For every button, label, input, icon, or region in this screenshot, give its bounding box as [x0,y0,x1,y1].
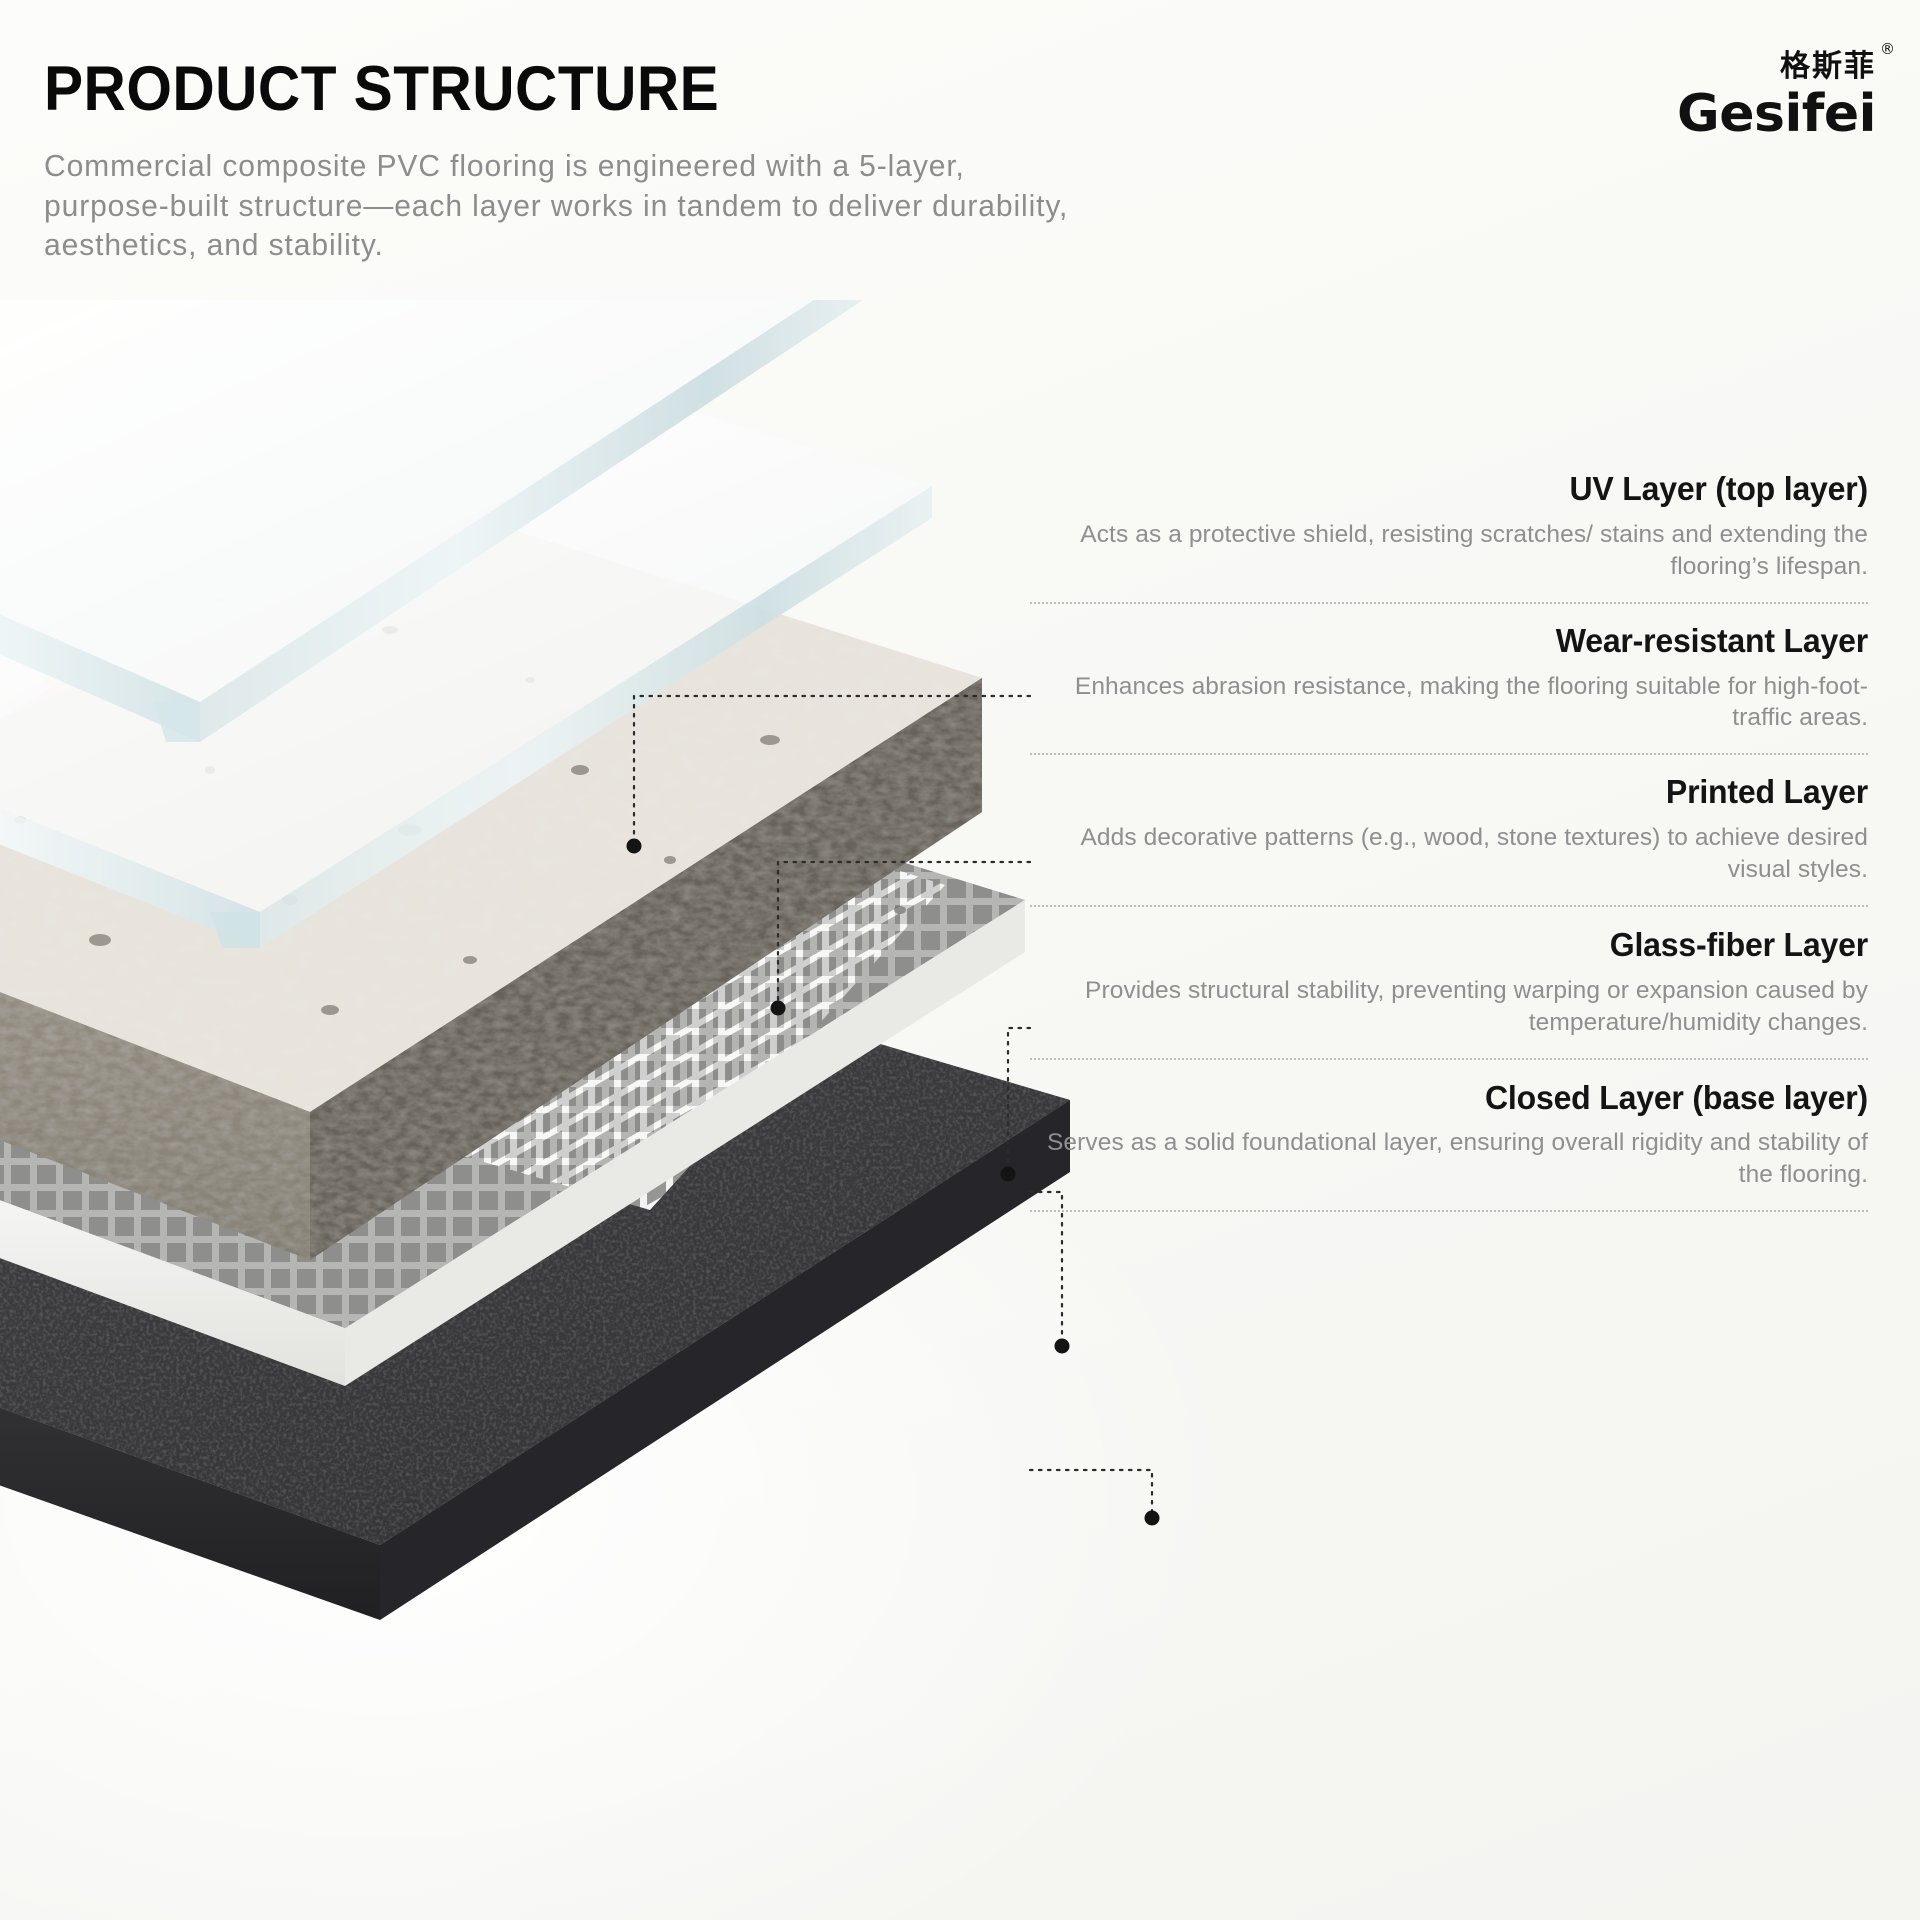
layer-description-printed: Adds decorative patterns (e.g., wood, st… [1030,822,1868,886]
layer-callout-wear-resistant[interactable]: Wear-resistant Layer Enhances abrasion r… [1030,622,1890,756]
registered-trademark-icon: ® [1880,42,1895,57]
logo-chinese-text: 格斯菲 [1780,49,1876,84]
page-header: PRODUCT STRUCTURE Commercial composite P… [44,58,1104,266]
layer-description-wear-resistant: Enhances abrasion resistance, making the… [1030,671,1868,735]
layer-description-uv: Acts as a protective shield, resisting s… [1030,519,1868,583]
layer-title-uv: UV Layer (top layer) [1055,470,1868,509]
callout-divider [1030,905,1868,907]
page-subtitle: Commercial composite PVC flooring is eng… [44,147,1088,266]
layer-callout-list: UV Layer (top layer) Acts as a protectiv… [1030,470,1890,1212]
layer-callout-closed[interactable]: Closed Layer (base layer) Serves as a so… [1030,1079,1890,1213]
layer-title-closed: Closed Layer (base layer) [1055,1079,1868,1118]
layer-description-closed: Serves as a solid foundational layer, en… [1030,1127,1868,1191]
layer-title-wear-resistant: Wear-resistant Layer [1055,622,1868,661]
layer-title-printed: Printed Layer [1055,773,1868,812]
callout-divider [1030,1210,1868,1212]
layer-callout-uv[interactable]: UV Layer (top layer) Acts as a protectiv… [1030,470,1890,604]
brand-logo[interactable]: 格斯菲 ® Gesifei [1677,52,1876,140]
layer-callout-printed[interactable]: Printed Layer Adds decorative patterns (… [1030,773,1890,907]
layer-title-glass-fiber: Glass-fiber Layer [1055,926,1868,965]
callout-divider [1030,602,1868,604]
callout-divider [1030,1058,1868,1060]
callout-divider [1030,753,1868,755]
product-exploded-illustration [0,300,1130,1860]
layer-description-glass-fiber: Provides structural stability, preventin… [1030,975,1868,1039]
logo-english-name: Gesifei [1677,88,1876,140]
logo-chinese-name: 格斯菲 ® [1780,52,1876,82]
layer-callout-glass-fiber[interactable]: Glass-fiber Layer Provides structural st… [1030,926,1890,1060]
page-title: PRODUCT STRUCTURE [44,58,1030,121]
